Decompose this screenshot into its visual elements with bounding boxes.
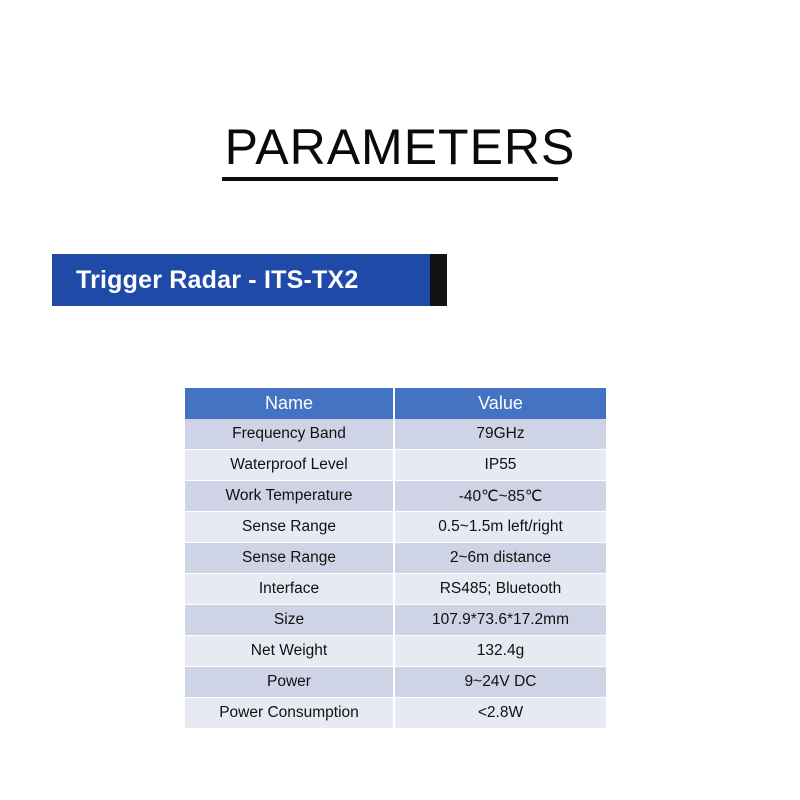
table-row: Frequency Band79GHz [185, 419, 606, 450]
table-row: InterfaceRS485; Bluetooth [185, 574, 606, 605]
column-header-value: Value [394, 388, 606, 419]
title-underline [222, 177, 558, 181]
product-banner-label: Trigger Radar - ITS-TX2 [76, 254, 358, 306]
cell-value: 0.5~1.5m left/right [394, 512, 606, 543]
table-header-row: Name Value [185, 388, 606, 419]
table-row: Power9~24V DC [185, 667, 606, 698]
cell-value: IP55 [394, 450, 606, 481]
column-header-name: Name [185, 388, 394, 419]
cell-value: 107.9*73.6*17.2mm [394, 605, 606, 636]
table-header: Name Value [185, 388, 606, 419]
product-banner: Trigger Radar - ITS-TX2 [52, 254, 447, 306]
cell-value: 132.4g [394, 636, 606, 667]
table-row: Size107.9*73.6*17.2mm [185, 605, 606, 636]
cell-name: Net Weight [185, 636, 394, 667]
banner-end-cap [430, 254, 447, 306]
cell-value: -40℃~85℃ [394, 481, 606, 512]
table-body: Frequency Band79GHzWaterproof LevelIP55W… [185, 419, 606, 729]
cell-name: Size [185, 605, 394, 636]
cell-value: RS485; Bluetooth [394, 574, 606, 605]
cell-value: 2~6m distance [394, 543, 606, 574]
cell-name: Sense Range [185, 543, 394, 574]
cell-name: Work Temperature [185, 481, 394, 512]
cell-name: Waterproof Level [185, 450, 394, 481]
table-row: Power Consumption<2.8W [185, 698, 606, 729]
table-row: Net Weight132.4g [185, 636, 606, 667]
table-row: Sense Range0.5~1.5m left/right [185, 512, 606, 543]
cell-name: Power [185, 667, 394, 698]
cell-name: Sense Range [185, 512, 394, 543]
table-row: Sense Range2~6m distance [185, 543, 606, 574]
parameters-page: PARAMETERS Trigger Radar - ITS-TX2 Name … [0, 0, 800, 800]
cell-value: 9~24V DC [394, 667, 606, 698]
specification-table: Name Value Frequency Band79GHzWaterproof… [185, 388, 606, 729]
table-row: Work Temperature-40℃~85℃ [185, 481, 606, 512]
cell-name: Power Consumption [185, 698, 394, 729]
page-title: PARAMETERS [225, 118, 576, 176]
cell-name: Interface [185, 574, 394, 605]
cell-value: <2.8W [394, 698, 606, 729]
table-row: Waterproof LevelIP55 [185, 450, 606, 481]
cell-value: 79GHz [394, 419, 606, 450]
page-title-block: PARAMETERS [0, 118, 800, 176]
cell-name: Frequency Band [185, 419, 394, 450]
